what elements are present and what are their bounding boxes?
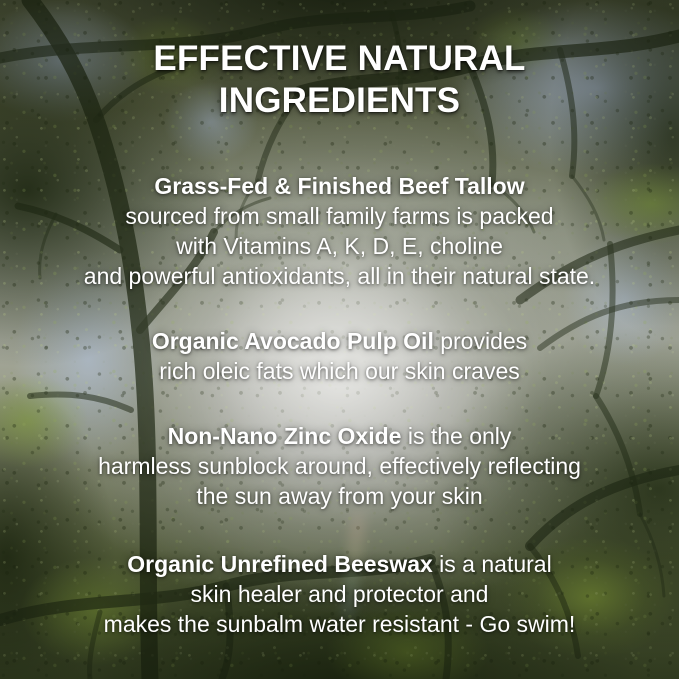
ingredient-lead-tail: provides <box>434 328 527 354</box>
ingredients-poster: EFFECTIVE NATURAL INGREDIENTS Grass-Fed … <box>0 0 679 679</box>
ingredient-paragraph-beeswax: Organic Unrefined Beeswax is a natural s… <box>18 549 661 639</box>
ingredient-name-beeswax: Organic Unrefined Beeswax <box>127 551 433 577</box>
ingredient-lead-tallow: Grass-Fed & Finished Beef Tallow <box>18 171 661 201</box>
ingredient-lead-tail: is a natural <box>433 551 552 577</box>
ingredient-lead-avocado: Organic Avocado Pulp Oil provides <box>18 326 661 356</box>
ingredient-name-avocado: Organic Avocado Pulp Oil <box>152 328 434 354</box>
title-line-1: EFFECTIVE NATURAL <box>18 38 661 80</box>
ingredient-paragraph-zinc: Non-Nano Zinc Oxide is the only harmless… <box>18 421 661 511</box>
ingredient-text-line: skin healer and protector and <box>18 579 661 609</box>
ingredient-text-line: with Vitamins A, K, D, E, choline <box>18 231 661 261</box>
title-line-2: INGREDIENTS <box>18 80 661 122</box>
ingredient-lead-zinc: Non-Nano Zinc Oxide is the only <box>18 421 661 451</box>
ingredient-lead-tail: is the only <box>401 423 511 449</box>
ingredient-lead-beeswax: Organic Unrefined Beeswax is a natural <box>18 549 661 579</box>
ingredient-text-line: and powerful antioxidants, all in their … <box>18 261 661 291</box>
ingredient-paragraph-avocado: Organic Avocado Pulp Oil provides rich o… <box>18 326 661 386</box>
poster-content: EFFECTIVE NATURAL INGREDIENTS Grass-Fed … <box>0 0 679 679</box>
ingredient-text-line: makes the sunbalm water resistant - Go s… <box>18 609 661 639</box>
ingredient-text-line: rich oleic fats which our skin craves <box>18 356 661 386</box>
ingredient-text-line: the sun away from your skin <box>18 481 661 511</box>
ingredient-name-tallow: Grass-Fed & Finished Beef Tallow <box>154 173 524 199</box>
ingredient-text-line: sourced from small family farms is packe… <box>18 201 661 231</box>
ingredient-paragraph-tallow: Grass-Fed & Finished Beef Tallow sourced… <box>18 171 661 291</box>
page-title: EFFECTIVE NATURAL INGREDIENTS <box>18 38 661 122</box>
ingredient-name-zinc: Non-Nano Zinc Oxide <box>168 423 402 449</box>
ingredient-text-line: harmless sunblock around, effectively re… <box>18 451 661 481</box>
